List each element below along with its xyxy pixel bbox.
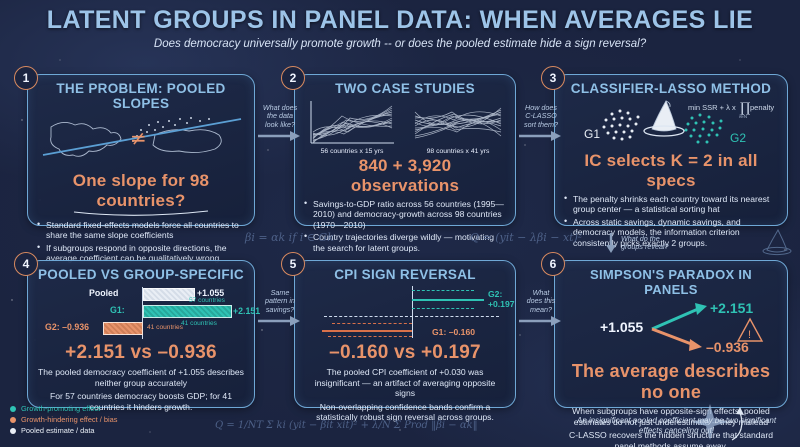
legend-item-pooled: Pooled estimate / data xyxy=(10,426,117,435)
panel-3-graphic: min SSR + λ x ∏ i∈N penalty G1 xyxy=(564,98,778,152)
ci-lower-g2 xyxy=(412,308,474,309)
arrow-down-icon xyxy=(605,232,617,254)
panel-3-bullet-list: The penalty shrinks each country toward … xyxy=(564,194,778,248)
panel-1-map-scatter-graphic: ≠ xyxy=(37,113,247,165)
panel-3-badge: 3 xyxy=(541,66,565,90)
spaghetti-plot-2 xyxy=(412,98,504,148)
panel-2-two-case-studies[interactable]: TWO CASE STUDIES xyxy=(294,74,516,226)
ci-lower-g1 xyxy=(328,336,412,337)
connector-panel3-panel6-label: What do the groups reveal? xyxy=(621,235,669,252)
panel-3-title: CLASSIFIER-LASSO METHOD xyxy=(564,81,778,96)
legend-dot-icon xyxy=(10,428,16,434)
bar-count-41-orange: 41 countries xyxy=(147,324,183,331)
arrow-right-icon xyxy=(256,130,302,142)
connector-panel5-panel6: What does this mean? xyxy=(517,289,565,332)
connector-panel3-panel6: What do the groups reveal? xyxy=(605,232,669,254)
panel-2-bullet-0: Savings-to-GDP ratio across 56 countries… xyxy=(304,199,506,230)
footnote: An insignificant pooled coefficient may … xyxy=(569,416,784,436)
panel-1-bullet-list: Standard fixed-effects models force all … xyxy=(37,220,245,264)
spaghetti-plot-1 xyxy=(306,98,398,148)
ci-upper-g1 xyxy=(332,323,412,324)
zero-axis xyxy=(412,286,413,338)
panel-5-line-0: The pooled CPI coefficient of +0.030 was… xyxy=(304,367,506,399)
page-subtitle: Does democracy universally promote growt… xyxy=(0,38,800,50)
panel-6-high-value: +2.151 xyxy=(710,300,753,316)
legend-dot-icon xyxy=(10,406,16,412)
panel-2-charts: 56 countries x 15 yrs xyxy=(304,98,506,155)
panel-2-caption-1: 98 countries x 41 yrs xyxy=(412,148,504,155)
panel-6-pooled-value: +1.055 xyxy=(600,319,643,335)
svg-text:min SSR + λ x: min SSR + λ x xyxy=(688,103,736,112)
bar-count-57: 57 countries xyxy=(189,297,225,304)
ci-label-g1: G1: –0.160 xyxy=(432,327,475,337)
panel-1-badge: 1 xyxy=(14,66,38,90)
panel-1-pooled-slopes[interactable]: THE PROBLEM: POOLED SLOPES ≠ One slope f… xyxy=(27,74,255,226)
legend-item-growth-hindering: Growth-hindering effect / bias xyxy=(10,415,117,424)
panel-1-title: THE PROBLEM: POOLED SLOPES xyxy=(37,81,245,111)
connector-panel2-panel3-label: How does C-LASSO sort them? xyxy=(517,104,565,129)
svg-text:G2: G2 xyxy=(730,131,746,145)
ci-point-g2 xyxy=(412,299,484,301)
panel-3-classifier-lasso[interactable]: CLASSIFIER-LASSO METHOD min SSR + λ x ∏ … xyxy=(554,74,788,226)
panel-5-title: CPI SIGN REVERSAL xyxy=(304,267,506,282)
bar-g2 xyxy=(103,322,143,335)
connector-panel2-panel3: How does C-LASSO sort them? xyxy=(517,104,565,147)
connector-panel4-panel5-label: Same pattern in savings? xyxy=(256,289,304,314)
panel-6-title: SIMPSON'S PARADOX IN PANELS xyxy=(564,267,778,297)
legend-dot-icon xyxy=(10,417,16,423)
bar-count-41-teal: 41 countries xyxy=(181,320,217,327)
panel-6-low-value: –0.936 xyxy=(706,339,749,355)
svg-text:i∈N: i∈N xyxy=(739,114,747,119)
panel-4-bar-chart: Pooled +1.055 G1: +2.151 57 countries 41… xyxy=(37,284,245,340)
bar-g1 xyxy=(143,305,232,318)
background-formula-3: Q = 1/NT Σ ki (yit − βit xit)² + λ/N Σ P… xyxy=(215,420,478,431)
panel-5-badge: 5 xyxy=(281,252,305,276)
panel-4-headline: +2.151 vs –0.936 xyxy=(37,342,245,364)
panel-2-bullet-list: Savings-to-GDP ratio across 56 countries… xyxy=(304,199,506,253)
bar-label-pooled: Pooled xyxy=(89,288,118,298)
panel-6-diagram: ! +1.055 +2.151 –0.936 xyxy=(564,299,778,361)
panel-1-headline: One slope for 98 countries? xyxy=(37,171,245,211)
arrow-right-icon xyxy=(256,315,302,327)
legend-label-1: Growth-hindering effect / bias xyxy=(21,415,117,424)
bar-pooled xyxy=(143,288,195,301)
panel-6-badge: 6 xyxy=(541,252,565,276)
panel-4-line-0: The pooled democracy coefficient of +1.0… xyxy=(37,367,245,388)
arrow-right-icon xyxy=(517,315,563,327)
panel-2-chart-savings: 56 countries x 15 yrs xyxy=(306,98,398,155)
legend-label-2: Pooled estimate / data xyxy=(21,426,95,435)
legend-label-0: Growth-promoting effect xyxy=(21,404,100,413)
bar-label-g1: G1: xyxy=(110,305,125,315)
panel-3-bullet-1: Across static savings, dynamic savings, … xyxy=(564,217,778,248)
ci-label-g2: G2: +0.197 xyxy=(488,289,515,309)
connector-panel1-panel2: What does the data look like? xyxy=(256,104,304,147)
page-title: LATENT GROUPS IN PANEL DATA: WHEN AVERAG… xyxy=(0,6,800,35)
panel-2-chart-democracy: 98 countries x 41 yrs xyxy=(412,98,504,155)
ci-pooled-band xyxy=(324,316,499,317)
wizard-hat-icon xyxy=(760,228,792,256)
panel-2-badge: 2 xyxy=(281,66,305,90)
panel-1-underline-swoosh xyxy=(66,210,216,217)
panel-3-headline: IC selects K = 2 in all specs xyxy=(564,151,778,191)
panel-5-headline: –0.160 vs +0.197 xyxy=(304,342,506,364)
connector-panel4-panel5: Same pattern in savings? xyxy=(256,289,304,332)
sorting-hat-and-clusters: min SSR + λ x ∏ i∈N penalty G1 xyxy=(564,98,780,152)
legend-item-growth-promoting: Growth-promoting effect xyxy=(10,404,117,413)
svg-text:≠: ≠ xyxy=(130,126,147,150)
panel-2-headline: 840 + 3,920 observations xyxy=(304,156,506,196)
panel-6-simpsons-paradox[interactable]: SIMPSON'S PARADOX IN PANELS ! +1.055 +2.… xyxy=(554,260,788,408)
panel-5-cpi-sign-reversal[interactable]: CPI SIGN REVERSAL G2: +0.197 G1: –0.160 … xyxy=(294,260,516,408)
arrow-right-icon xyxy=(517,130,563,142)
svg-text:G1: G1 xyxy=(584,127,600,141)
ci-upper-g2 xyxy=(412,290,474,291)
background-formula-2: Q = (yit − λβi − xt)² xyxy=(470,231,582,244)
svg-text:penalty: penalty xyxy=(750,103,774,112)
panel-5-ci-chart: G2: +0.197 G1: –0.160 xyxy=(304,284,506,340)
panel-4-pooled-vs-group[interactable]: POOLED VS GROUP-SPECIFIC Pooled +1.055 G… xyxy=(27,260,255,408)
panel-2-title: TWO CASE STUDIES xyxy=(304,81,506,96)
panel-4-title: POOLED VS GROUP-SPECIFIC xyxy=(37,267,245,282)
panel-6-headline: The average describes no one xyxy=(564,361,778,403)
panel-4-badge: 4 xyxy=(14,252,38,276)
panel-3-bullet-0: The penalty shrinks each country toward … xyxy=(564,194,778,215)
bar-label-g2: G2: –0.936 xyxy=(45,322,89,332)
ci-point-g1 xyxy=(322,330,412,332)
legend: Growth-promoting effect Growth-hindering… xyxy=(10,404,117,437)
background-formula-1: βi = αk if i ∈ Gk xyxy=(245,231,334,244)
connector-panel5-panel6-label: What does this mean? xyxy=(517,289,565,314)
connector-panel1-panel2-label: What does the data look like? xyxy=(256,104,304,129)
panel-1-bullet-0: Standard fixed-effects models force all … xyxy=(37,220,245,241)
panel-2-caption-0: 56 countries x 15 yrs xyxy=(306,148,398,155)
